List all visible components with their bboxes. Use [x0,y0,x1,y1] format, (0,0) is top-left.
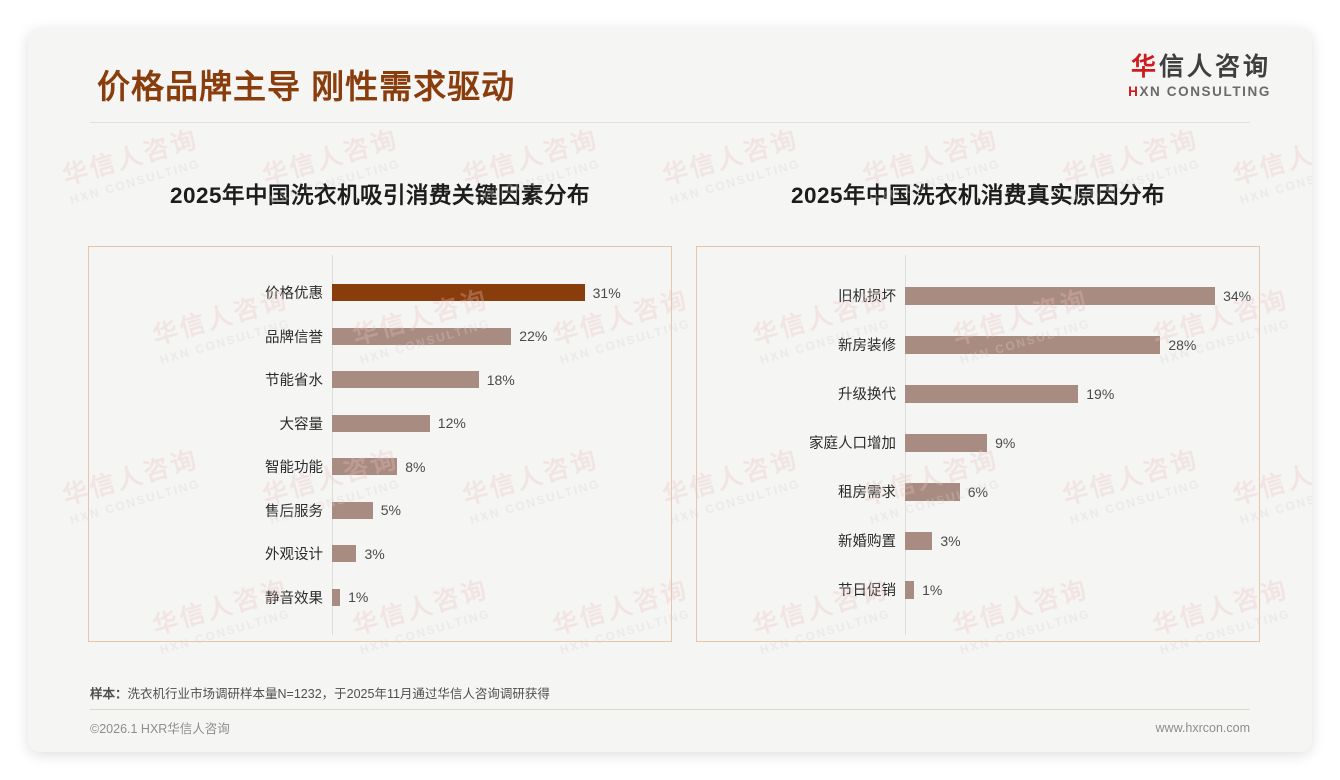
bar-category-label: 节日促销 [697,579,905,600]
chart-bar-row: 租房需求6% [697,467,1249,516]
bar-value-label: 3% [932,533,960,549]
bar-area: 5% [332,489,661,533]
bar-category-label: 新婚购置 [697,530,905,551]
bar-category-label: 智能功能 [89,456,332,477]
bar-value-label: 12% [430,415,466,431]
logo-chinese-rest: 信人咨询 [1159,53,1271,81]
bar-value-label: 31% [585,285,621,301]
logo-chinese-name: 华信人咨询 [1128,54,1271,80]
bar-area: 6% [905,467,1249,516]
chart-bar-row: 家庭人口增加9% [697,418,1249,467]
bar-value-label: 8% [397,459,425,475]
header-divider [90,122,1250,123]
bar-category-label: 升级换代 [697,383,905,404]
bar [332,545,356,562]
bar-area: 8% [332,445,661,489]
chart-panel-right: 旧机损坏34%新房装修28%升级换代19%家庭人口增加9%租房需求6%新婚购置3… [696,246,1260,642]
footer-divider [90,709,1250,710]
bar-category-label: 静音效果 [89,587,332,608]
sample-footnote: 样本：洗衣机行业市场调研样本量N=1232，于2025年11月通过华信人咨询调研… [90,683,1250,702]
logo-h-character: H [1128,84,1139,99]
chart-bar-row: 静音效果1% [89,576,661,620]
bar-value-label: 6% [960,484,988,500]
slide-footer: ©2026.1 HXR华信人咨询 www.hxrcon.com [90,718,1250,737]
bar-category-label: 旧机损坏 [697,285,905,306]
chart-bar-row: 大容量12% [89,402,661,446]
chart-bar-row: 节日促销1% [697,565,1249,614]
chart-bar-row: 价格优惠31% [89,271,661,315]
bar [905,532,932,550]
sample-footnote-text: 洗衣机行业市场调研样本量N=1232，于2025年11月通过华信人咨询调研获得 [128,687,550,701]
bar [905,581,914,599]
bar-area: 1% [905,565,1249,614]
bar-area: 12% [332,402,661,446]
bar-value-label: 3% [356,546,384,562]
bar [332,502,373,519]
slide: 价格品牌主导 刚性需求驱动 华信人咨询 HXN CONSULTING 华信人咨询… [28,28,1312,752]
chart-bar-row: 升级换代19% [697,369,1249,418]
chart-block-attraction-factors: 2025年中国洗衣机吸引消费关键因素分布 价格优惠31%品牌信誉22%节能省水1… [88,178,672,642]
chart-bar-row: 外观设计3% [89,532,661,576]
bar [332,328,511,345]
bar-value-label: 22% [511,328,547,344]
chart-bar-row: 智能功能8% [89,445,661,489]
bar-category-label: 租房需求 [697,481,905,502]
bar-area: 9% [905,418,1249,467]
chart-title-left: 2025年中国洗衣机吸引消费关键因素分布 [88,178,672,210]
chart-plot-right: 旧机损坏34%新房装修28%升级换代19%家庭人口增加9%租房需求6%新婚购置3… [697,247,1259,641]
bar-category-label: 大容量 [89,413,332,434]
bar-category-label: 售后服务 [89,500,332,521]
bar-area: 22% [332,315,661,359]
bar-value-label: 18% [479,372,515,388]
chart-plot-left: 价格优惠31%品牌信誉22%节能省水18%大容量12%智能功能8%售后服务5%外… [89,247,671,641]
bar [332,589,340,606]
bar-category-label: 外观设计 [89,543,332,564]
bar [332,284,585,301]
bar-area: 19% [905,369,1249,418]
bar-value-label: 5% [373,502,401,518]
chart-title-right: 2025年中国洗衣机消费真实原因分布 [696,178,1260,210]
bar [905,434,987,452]
bar-area: 28% [905,320,1249,369]
bar-category-label: 节能省水 [89,369,332,390]
bar-area: 18% [332,358,661,402]
bar-area: 1% [332,576,661,620]
chart-bar-row: 新婚购置3% [697,516,1249,565]
bar-area: 31% [332,271,661,315]
page-title: 价格品牌主导 刚性需求驱动 [97,60,515,108]
chart-bar-row: 节能省水18% [89,358,661,402]
bar-area: 34% [905,271,1251,320]
sample-footnote-label: 样本： [90,687,128,701]
chart-bar-row: 旧机损坏34% [697,271,1249,320]
logo-hua-character: 华 [1131,53,1159,81]
bar-category-label: 品牌信誉 [89,326,332,347]
slide-header: 价格品牌主导 刚性需求驱动 华信人咨询 HXN CONSULTING [28,28,1312,122]
bar-value-label: 1% [340,589,368,605]
bar [905,483,960,501]
bar-value-label: 34% [1215,288,1251,304]
logo-english-rest: XN CONSULTING [1139,84,1271,99]
bar-value-label: 9% [987,435,1015,451]
chart-panel-left: 价格优惠31%品牌信誉22%节能省水18%大容量12%智能功能8%售后服务5%外… [88,246,672,642]
bar-category-label: 家庭人口增加 [697,432,905,453]
bar [332,458,397,475]
bar [905,385,1078,403]
bar-value-label: 28% [1160,337,1196,353]
company-logo: 华信人咨询 HXN CONSULTING [1128,54,1271,99]
bar-category-label: 新房装修 [697,334,905,355]
chart-block-real-reasons: 2025年中国洗衣机消费真实原因分布 旧机损坏34%新房装修28%升级换代19%… [696,178,1260,642]
copyright-text: ©2026.1 HXR华信人咨询 [90,718,230,737]
chart-bar-row: 新房装修28% [697,320,1249,369]
bar [905,287,1215,305]
bar-category-label: 价格优惠 [89,282,332,303]
bar-area: 3% [332,532,661,576]
bar-value-label: 1% [914,582,942,598]
bar-value-label: 19% [1078,386,1114,402]
chart-bar-row: 品牌信誉22% [89,315,661,359]
chart-bar-row: 售后服务5% [89,489,661,533]
logo-english-name: HXN CONSULTING [1128,84,1271,99]
bar-area: 3% [905,516,1249,565]
bar [905,336,1160,354]
bar [332,415,430,432]
bar [332,371,479,388]
website-link[interactable]: www.hxrcon.com [1156,721,1250,735]
